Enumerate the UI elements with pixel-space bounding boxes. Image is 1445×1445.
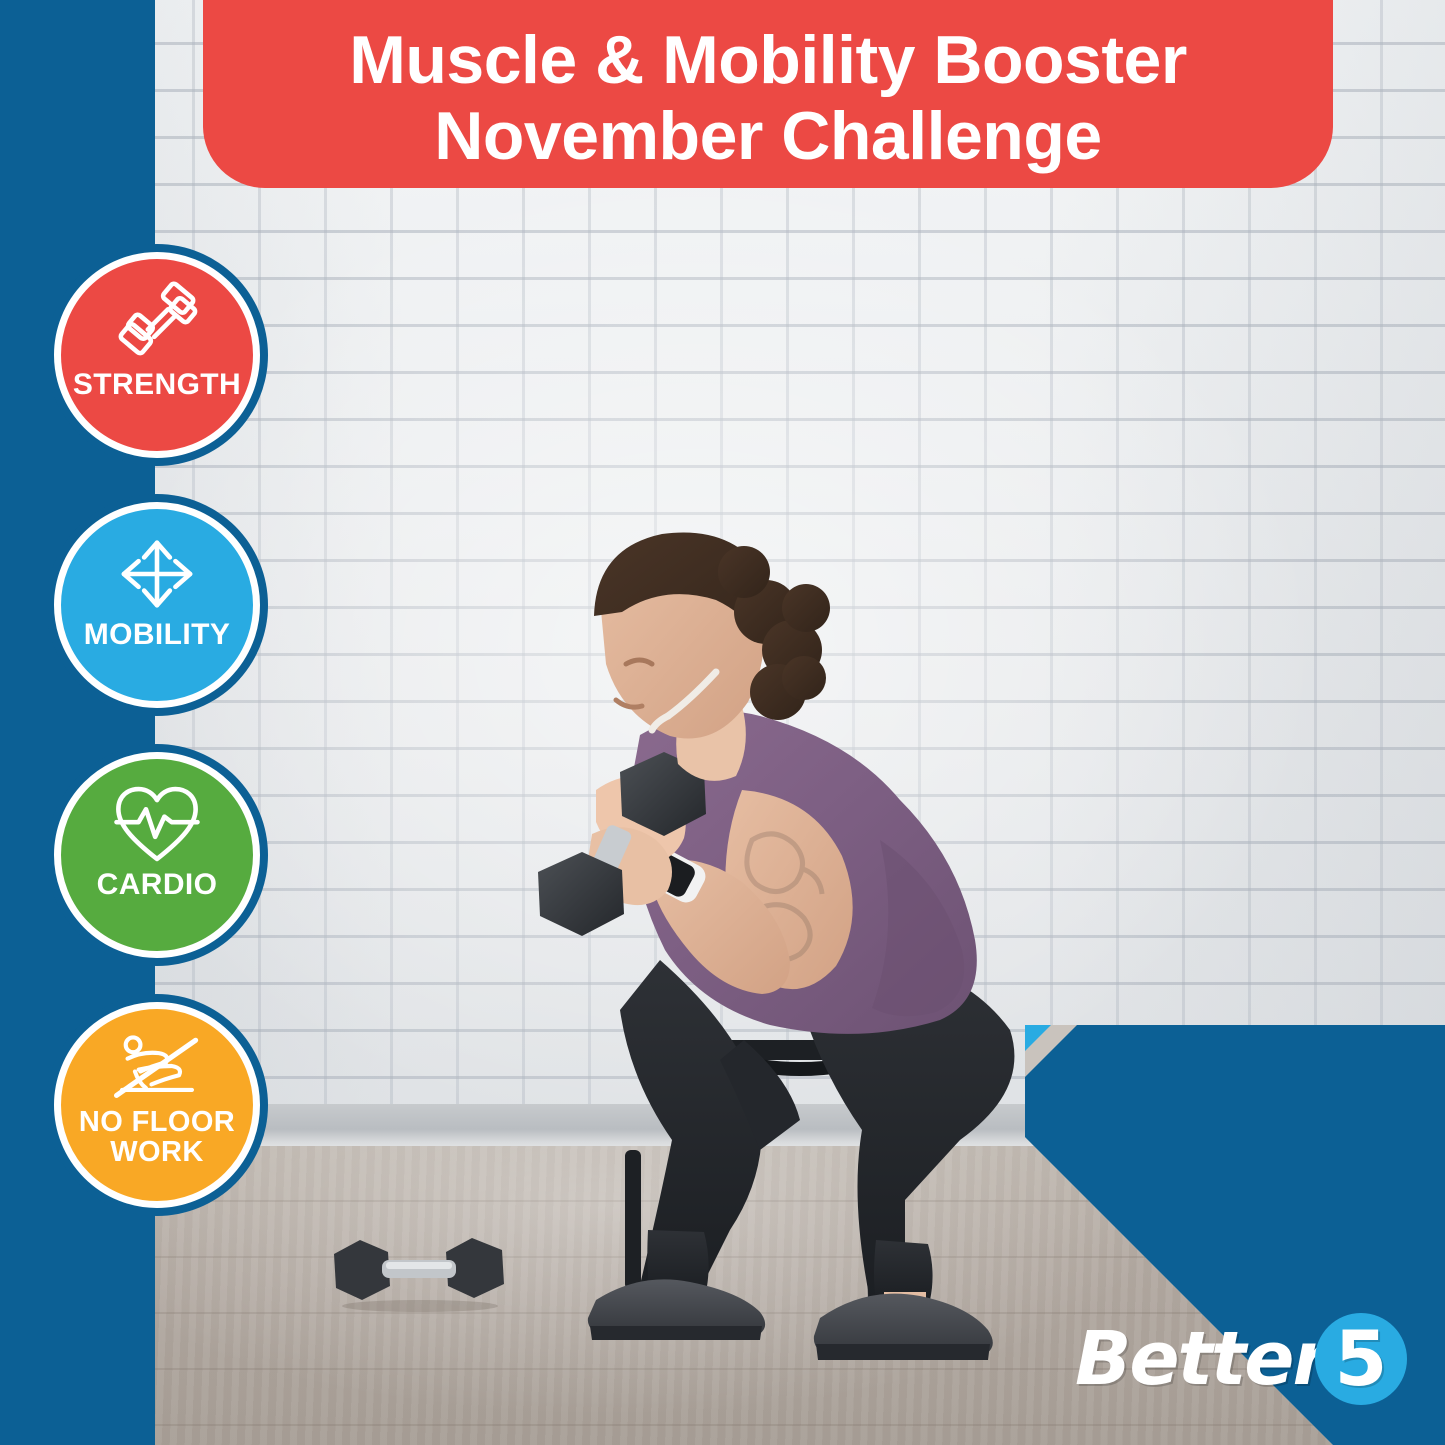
badge-cardio[interactable]: CARDIO [46,744,268,966]
dumbbell-on-floor [330,1222,510,1312]
title-banner: Muscle & Mobility Booster November Chall… [203,0,1333,188]
logo-wordmark: Better [1075,1322,1327,1396]
title-line-1: Muscle & Mobility Booster [349,22,1187,98]
badge-label: NO FLOOR WORK [72,1107,242,1167]
badge-label: STRENGTH [73,369,241,400]
badge-disc: NO FLOOR WORK [54,1002,260,1208]
badge-label: CARDIO [97,869,218,900]
badge-no-floor-work[interactable]: NO FLOOR WORK [46,994,268,1216]
four-arrows-icon [111,531,203,617]
badge-disc: CARDIO [54,752,260,958]
badge-label: MOBILITY [84,619,231,650]
title-line-2: November Challenge [434,98,1101,174]
better5-logo[interactable]: Better 5 [1075,1313,1407,1405]
sneaker-left [588,1279,765,1340]
badge-strength[interactable]: STRENGTH [46,244,268,466]
badge-disc: STRENGTH [54,252,260,458]
no-floor-work-icon [111,1027,203,1105]
sneaker-right [814,1294,993,1360]
badge-mobility[interactable]: MOBILITY [46,494,268,716]
left-sidebar [0,0,155,1445]
logo-five-numeral: 5 [1315,1313,1407,1405]
promo-poster: Muscle & Mobility Booster November Chall… [0,0,1445,1445]
logo-five-badge: 5 [1315,1313,1407,1405]
dumbbell-icon [111,281,203,367]
badge-disc: MOBILITY [54,502,260,708]
heart-pulse-icon [111,781,203,867]
